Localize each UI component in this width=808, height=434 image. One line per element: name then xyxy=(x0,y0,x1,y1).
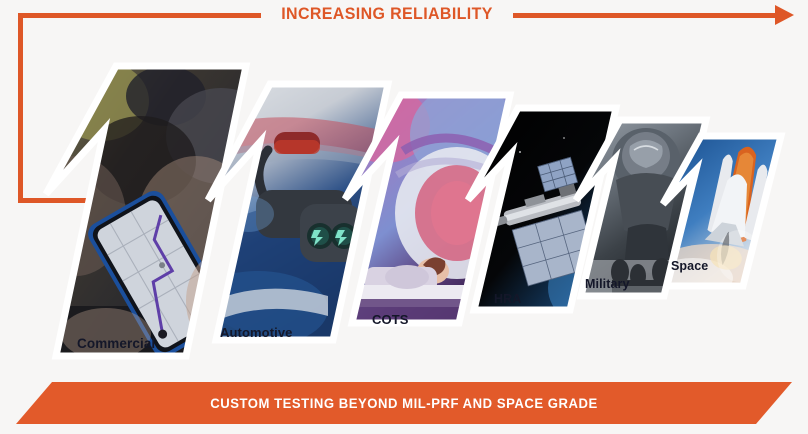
arrow-vertical-stem xyxy=(18,13,23,203)
stage-label-commercial: Commercial xyxy=(77,336,155,351)
page-title: INCREASING RELIABILITY xyxy=(269,4,506,24)
stage-label-cots: COTS xyxy=(372,312,409,327)
stage-label-military: Military xyxy=(585,277,630,291)
arrow-line-left xyxy=(18,13,261,18)
stage-label-automotive: Automotive xyxy=(220,325,293,340)
bottom-banner xyxy=(0,382,808,424)
arrow-line-right xyxy=(513,13,779,18)
right-arrow-icon xyxy=(775,5,794,25)
stage-label-hra: HRA xyxy=(494,292,521,306)
infographic-canvas: INCREASING RELIABILITY xyxy=(0,0,808,434)
stage-label-space: Space xyxy=(671,259,708,273)
